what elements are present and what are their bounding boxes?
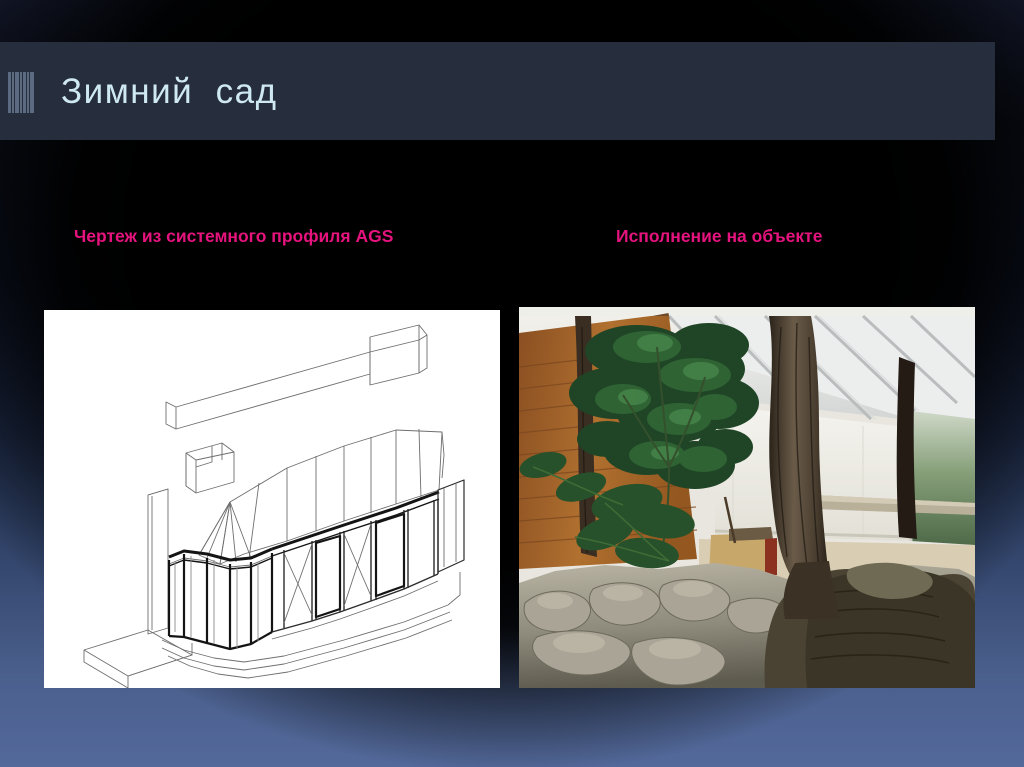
page-title: Зимний сад [61,68,278,115]
photo-content [519,307,975,688]
barcode-bars-icon [8,72,34,113]
photo-winter-garden-interior [519,307,975,688]
caption-photo: Исполнение на объекте [616,226,822,247]
slide-canvas: Зимний сад Чертеж из системного профиля … [0,0,1024,767]
title-band: Зимний сад [0,42,995,140]
caption-drawing: Чертеж из системного профиля AGS [74,226,393,247]
drawing-conservatory-isometric [44,310,500,688]
isometric-line-drawing [44,310,500,688]
